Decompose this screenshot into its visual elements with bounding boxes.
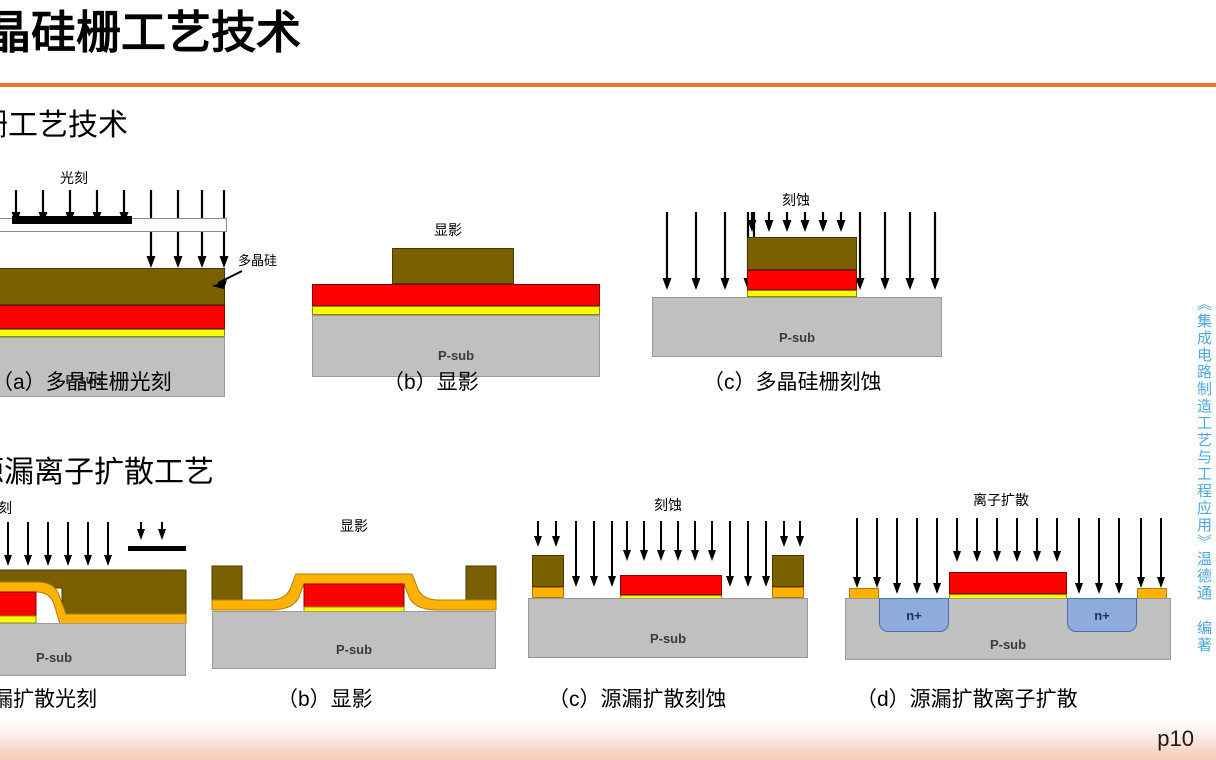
page-title: 晶硅栅工艺技术 <box>0 4 301 62</box>
footer-bar: p10 <box>0 718 1216 760</box>
gate-oxide-layer <box>312 306 600 315</box>
gate-oxide-layer <box>747 290 857 297</box>
oxide-pad-right <box>772 587 804 598</box>
caption-2a: 漏扩散光刻 <box>0 683 97 713</box>
polysilicon-layer <box>312 284 600 306</box>
substrate-layer: P-sub <box>652 297 942 357</box>
caption-2d: （d）源漏扩散离子扩散 <box>856 683 1078 713</box>
substrate-label: P-sub <box>529 631 807 646</box>
polysilicon-gate <box>949 572 1067 594</box>
figure-2c-source-drain-etch: 刻蚀 P-sub <box>528 495 808 673</box>
title-divider <box>0 83 1216 87</box>
substrate-label: P-sub <box>313 348 599 363</box>
section-heading-source-drain: 源漏离子扩散工艺 <box>0 447 214 491</box>
oxide-pad-left <box>532 587 564 598</box>
photoresist-block <box>392 248 514 284</box>
polysilicon-gate <box>620 575 722 595</box>
substrate-label: P-sub <box>0 650 185 665</box>
substrate-label: P-sub <box>846 637 1170 652</box>
n-plus-region-right: n+ <box>1067 598 1137 632</box>
photoresist-block <box>747 237 857 270</box>
photoresist-block-left <box>532 555 564 587</box>
n-plus-region-left: n+ <box>879 598 949 632</box>
substrate-layer: P-sub <box>212 611 496 669</box>
figure-2d-ion-diffusion: 离子扩散 P-sub n+ n+ <box>845 490 1171 672</box>
page-number: p10 <box>1157 726 1194 752</box>
annotation-label-polysilicon: 多晶硅 <box>238 250 277 269</box>
caption-1c: （c）多晶硅栅刻蚀 <box>703 366 882 396</box>
figure-1c-gate-etch: 刻蚀 P-sub <box>652 190 942 365</box>
substrate-layer: P-sub <box>0 623 186 676</box>
figure-1b-develop: 显影 P-sub <box>312 220 600 365</box>
book-credit-text: 《集成电路制造工艺与工程应用》温德通 编著 <box>1193 296 1214 654</box>
substrate-label: P-sub <box>653 330 941 345</box>
polysilicon-gate <box>747 270 857 290</box>
photoresist-block-right <box>772 555 804 587</box>
caption-1b: （b）显影 <box>383 366 479 396</box>
n-plus-label-right: n+ <box>1068 608 1136 623</box>
n-plus-label-left: n+ <box>880 608 948 623</box>
caption-2b: （b）显影 <box>277 683 373 713</box>
substrate-layer: P-sub <box>528 598 808 658</box>
figure-2a-source-drain-litho: 光刻 P-sub <box>0 498 186 673</box>
substrate-label: P-sub <box>213 642 495 657</box>
caption-2c: （c）源漏扩散刻蚀 <box>548 683 727 713</box>
section-heading-polysilicon-gate: 栅工艺技术 <box>0 100 128 144</box>
caption-1a: （a）多晶硅栅光刻 <box>0 366 172 396</box>
process-label-develop: 显影 <box>434 220 462 240</box>
figure-2b-develop: 显影 P-sub <box>212 512 496 674</box>
annotation-leader-line <box>0 168 225 363</box>
figure-1a-polysilicon-gate-litho: 光刻 P-sub 多晶硅 <box>0 168 225 363</box>
